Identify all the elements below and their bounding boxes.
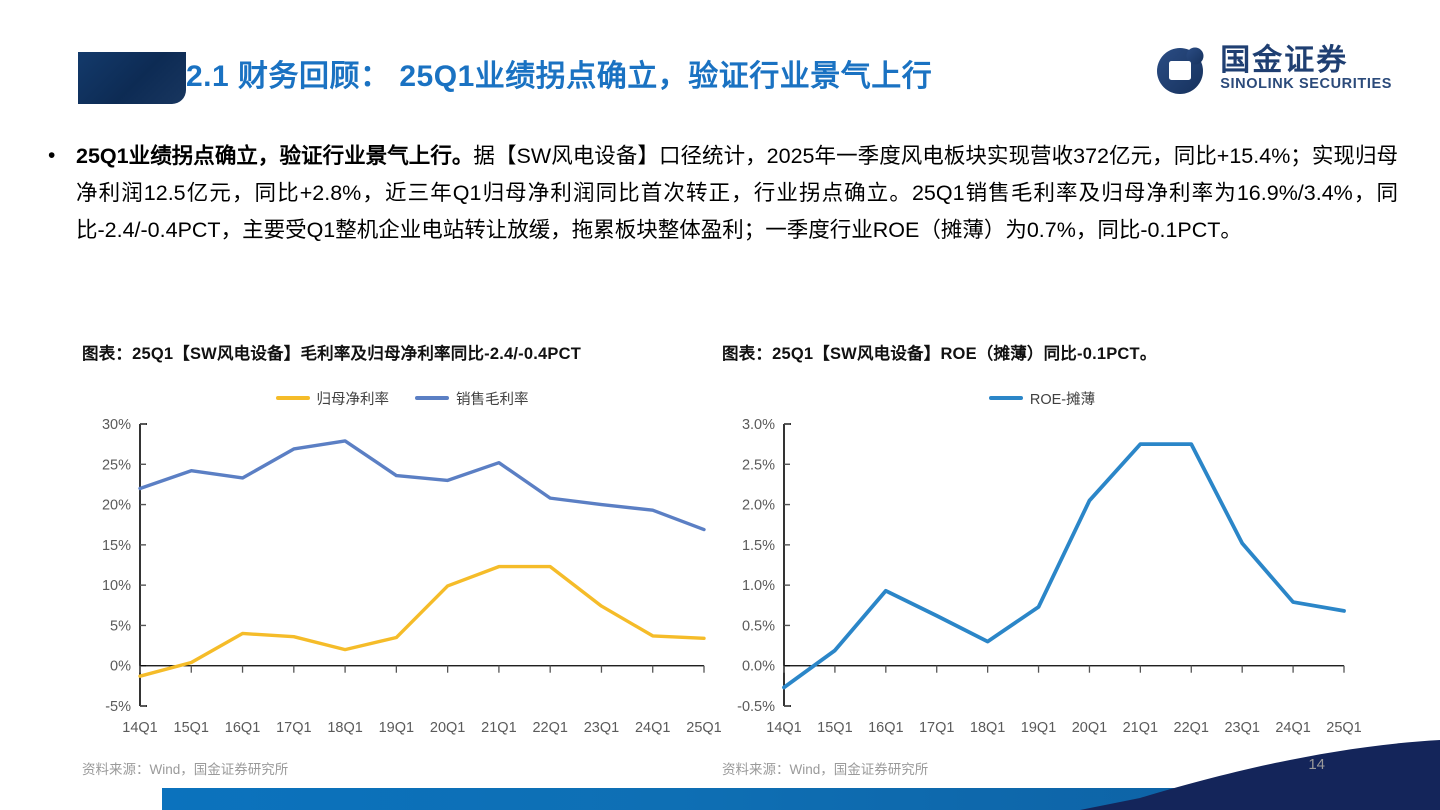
legend-label-gross-margin: 销售毛利率 (456, 388, 529, 409)
svg-text:17Q1: 17Q1 (919, 720, 954, 736)
body-paragraph: 25Q1业绩拐点确立，验证行业景气上行。据【SW风电设备】口径统计，2025年一… (76, 138, 1398, 249)
svg-text:15%: 15% (102, 538, 131, 554)
svg-text:18Q1: 18Q1 (970, 720, 1005, 736)
svg-text:2.5%: 2.5% (742, 457, 775, 473)
legend-item-roe: ROE-摊薄 (989, 388, 1095, 409)
svg-text:1.0%: 1.0% (742, 578, 775, 594)
chart-panel-roe: 图表：25Q1【SW风电设备】ROE（摊薄）同比-0.1PCT。 ROE-摊薄 … (722, 340, 1362, 746)
chart-source-roe: 资料来源：Wind，国金证券研究所 (722, 758, 928, 778)
chart-legend-margins: 归母净利率 销售毛利率 (82, 388, 722, 408)
svg-text:22Q1: 22Q1 (1174, 720, 1209, 736)
svg-text:20Q1: 20Q1 (430, 720, 465, 736)
svg-text:24Q1: 24Q1 (635, 720, 670, 736)
svg-text:23Q1: 23Q1 (584, 720, 619, 736)
company-logo: 国金证券 SINOLINK SECURITIES (1154, 42, 1392, 96)
svg-text:19Q1: 19Q1 (379, 720, 414, 736)
sinolink-logo-icon (1154, 42, 1208, 96)
bullet-marker: • (48, 138, 66, 249)
logo-text-en: SINOLINK SECURITIES (1220, 76, 1392, 93)
legend-label-roe: ROE-摊薄 (1030, 388, 1095, 409)
legend-item-net-margin: 归母净利率 (276, 388, 390, 409)
svg-text:21Q1: 21Q1 (481, 720, 516, 736)
svg-text:0.5%: 0.5% (742, 618, 775, 634)
legend-swatch-net-margin (276, 396, 310, 400)
svg-text:1.5%: 1.5% (742, 538, 775, 554)
svg-text:5%: 5% (110, 618, 131, 634)
logo-text-cn: 国金证券 (1220, 45, 1392, 77)
header-accent-block (78, 52, 186, 104)
svg-text:-5%: -5% (105, 699, 131, 715)
svg-text:25Q1: 25Q1 (686, 720, 721, 736)
svg-text:3.0%: 3.0% (742, 417, 775, 433)
svg-text:15Q1: 15Q1 (174, 720, 209, 736)
svg-text:24Q1: 24Q1 (1275, 720, 1310, 736)
chart-panel-margins: 图表：25Q1【SW风电设备】毛利率及归母净利率同比-2.4/-0.4PCT 归… (82, 340, 722, 746)
body-paragraph-block: • 25Q1业绩拐点确立，验证行业景气上行。据【SW风电设备】口径统计，2025… (48, 138, 1398, 249)
legend-swatch-roe (989, 396, 1023, 400)
footer-curve-decoration (1080, 740, 1440, 810)
chart-caption-roe: 图表：25Q1【SW风电设备】ROE（摊薄）同比-0.1PCT。 (722, 340, 1362, 364)
svg-text:-0.5%: -0.5% (737, 699, 775, 715)
svg-text:2.0%: 2.0% (742, 498, 775, 514)
chart-caption-margins: 图表：25Q1【SW风电设备】毛利率及归母净利率同比-2.4/-0.4PCT (82, 340, 722, 364)
slide-root: 2.1 财务回顾： 25Q1业绩拐点确立，验证行业景气上行 国金证券 SINOL… (0, 0, 1440, 810)
svg-text:19Q1: 19Q1 (1021, 720, 1056, 736)
svg-text:25Q1: 25Q1 (1326, 720, 1361, 736)
page-number: 14 (1308, 756, 1325, 773)
svg-text:10%: 10% (102, 578, 131, 594)
legend-swatch-gross-margin (415, 396, 449, 400)
svg-text:17Q1: 17Q1 (276, 720, 311, 736)
svg-text:23Q1: 23Q1 (1224, 720, 1259, 736)
legend-item-gross-margin: 销售毛利率 (415, 388, 529, 409)
svg-text:21Q1: 21Q1 (1123, 720, 1158, 736)
svg-text:20%: 20% (102, 498, 131, 514)
svg-text:16Q1: 16Q1 (868, 720, 903, 736)
logo-text: 国金证券 SINOLINK SECURITIES (1220, 45, 1392, 94)
svg-text:0%: 0% (110, 659, 131, 675)
svg-text:14Q1: 14Q1 (122, 720, 157, 736)
chart-plot-roe: -0.5%0.0%0.5%1.0%1.5%2.0%2.5%3.0%14Q115Q… (722, 416, 1362, 746)
chart-source-margins: 资料来源：Wind，国金证券研究所 (82, 758, 288, 778)
body-lead: 25Q1业绩拐点确立，验证行业景气上行。 (76, 144, 473, 168)
svg-text:18Q1: 18Q1 (327, 720, 362, 736)
svg-text:20Q1: 20Q1 (1072, 720, 1107, 736)
svg-text:22Q1: 22Q1 (532, 720, 567, 736)
chart-legend-roe: ROE-摊薄 (722, 388, 1362, 408)
svg-text:25%: 25% (102, 457, 131, 473)
svg-text:14Q1: 14Q1 (766, 720, 801, 736)
svg-text:16Q1: 16Q1 (225, 720, 260, 736)
page-title: 2.1 财务回顾： 25Q1业绩拐点确立，验证行业景气上行 (186, 54, 932, 100)
svg-text:30%: 30% (102, 417, 131, 433)
legend-label-net-margin: 归母净利率 (317, 388, 390, 409)
svg-text:0.0%: 0.0% (742, 659, 775, 675)
chart-plot-margins: -5%0%5%10%15%20%25%30%14Q115Q116Q117Q118… (82, 416, 722, 746)
svg-text:15Q1: 15Q1 (817, 720, 852, 736)
